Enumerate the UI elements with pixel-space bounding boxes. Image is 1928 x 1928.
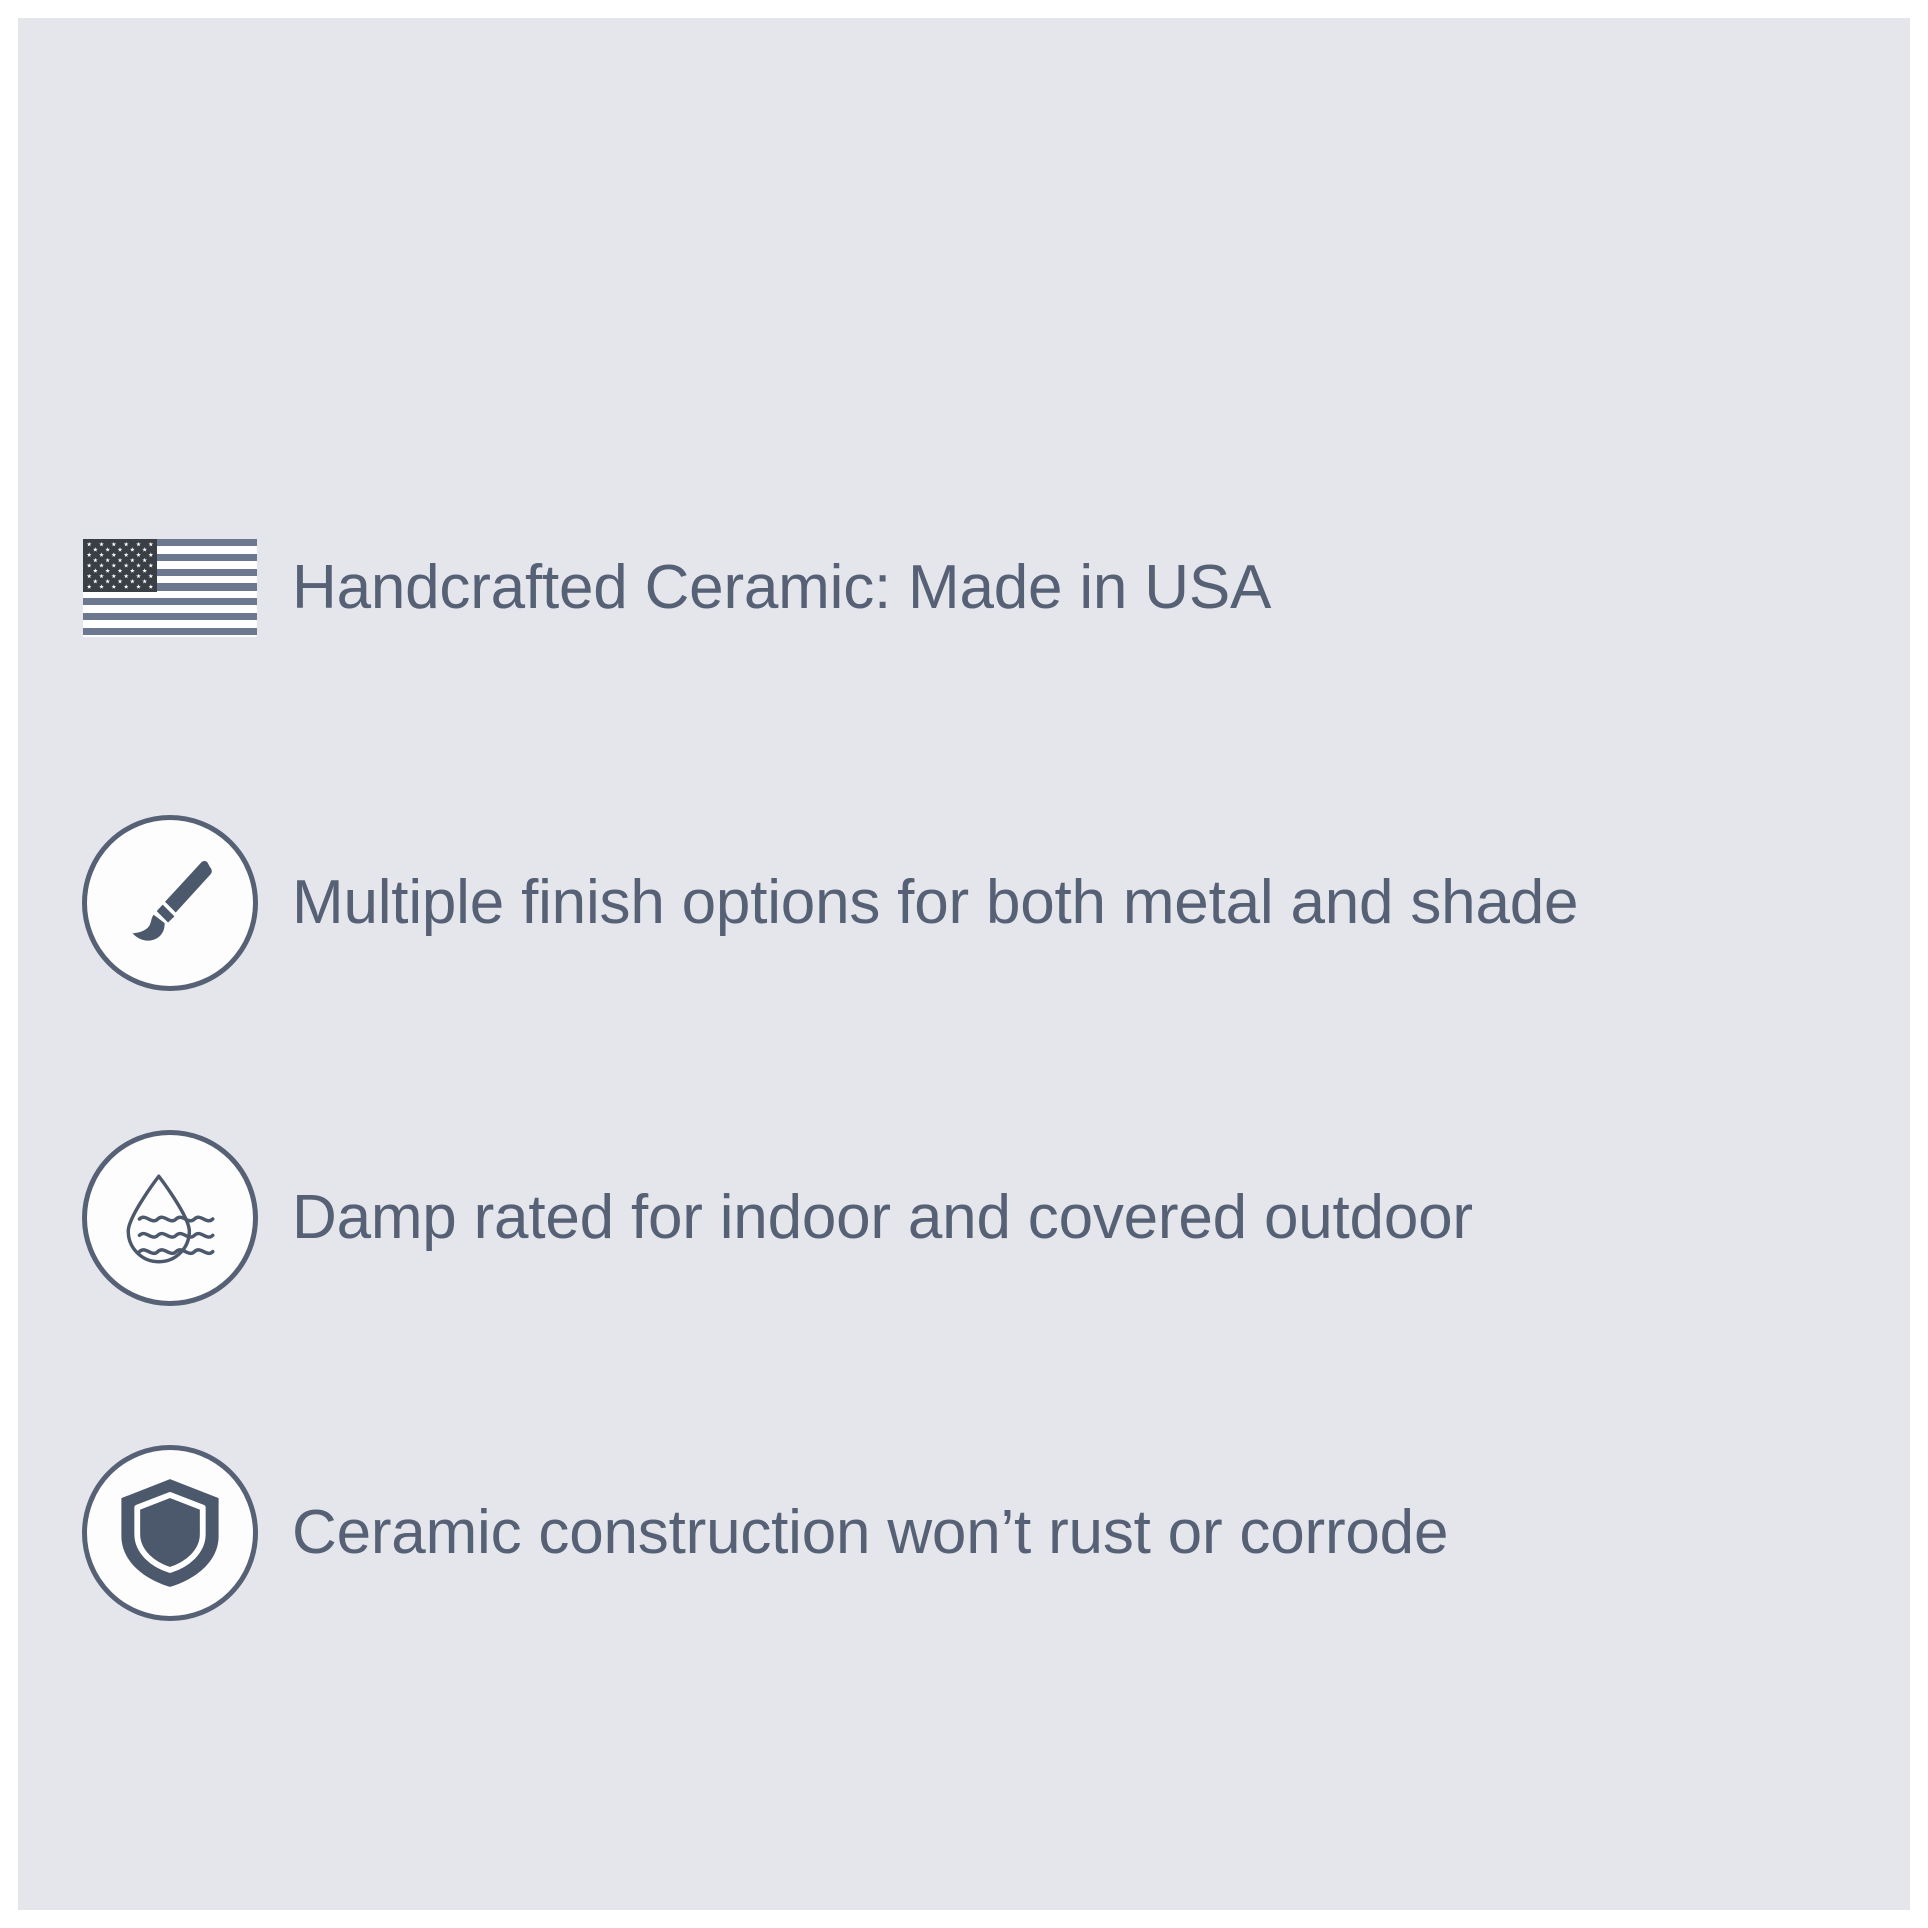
flag-star	[130, 558, 135, 563]
flag-star	[99, 584, 104, 589]
flag-star	[148, 552, 153, 557]
feature-item-made-in-usa: Handcrafted Ceramic: Made in USA	[72, 490, 1892, 686]
flag-star	[130, 547, 135, 552]
feature-list: Handcrafted Ceramic: Made in USA	[18, 18, 1910, 1910]
flag-star	[136, 563, 141, 568]
flag-star	[118, 579, 123, 584]
flag-star	[87, 584, 92, 589]
feature-item-finish-options: Multiple finish options for both metal a…	[72, 805, 1892, 1001]
flag-star	[99, 542, 104, 547]
flag-star	[99, 574, 104, 579]
flag-star	[136, 542, 141, 547]
flag-star	[105, 579, 110, 584]
flag-star	[148, 542, 153, 547]
flag-star	[124, 552, 129, 557]
feature-label: Multiple finish options for both metal a…	[268, 870, 1578, 937]
feature-icon-slot	[72, 805, 268, 1001]
flag-canton	[83, 539, 157, 592]
flag-star	[105, 547, 110, 552]
flag-star	[136, 584, 141, 589]
flag-star	[105, 558, 110, 563]
feature-icon-slot	[72, 1435, 268, 1631]
usa-flag-icon	[83, 539, 257, 637]
feature-icon-slot	[72, 1120, 268, 1316]
shield-icon	[82, 1445, 258, 1621]
flag-star	[105, 568, 110, 573]
flag-star	[87, 552, 92, 557]
flag-star	[130, 568, 135, 573]
flag-star	[142, 558, 147, 563]
flag-star	[118, 568, 123, 573]
product-feature-panel: Handcrafted Ceramic: Made in USA	[0, 0, 1928, 1928]
flag-star	[136, 574, 141, 579]
flag-star	[148, 584, 153, 589]
flag-star	[124, 563, 129, 568]
water-drop-icon	[82, 1130, 258, 1306]
flag-star	[111, 552, 116, 557]
flag-star	[124, 542, 129, 547]
panel-background: Handcrafted Ceramic: Made in USA	[18, 18, 1910, 1910]
feature-label: Damp rated for indoor and covered outdoo…	[268, 1185, 1473, 1252]
flag-star	[111, 563, 116, 568]
flag-star	[124, 584, 129, 589]
flag-star	[118, 547, 123, 552]
flag-star	[99, 563, 104, 568]
flag-star	[142, 547, 147, 552]
flag-star	[118, 558, 123, 563]
feature-label: Handcrafted Ceramic: Made in USA	[268, 555, 1271, 622]
flag-star	[99, 552, 104, 557]
feature-item-ceramic-construction: Ceramic construction won’t rust or corro…	[72, 1435, 1892, 1631]
flag-star	[142, 568, 147, 573]
flag-star	[148, 574, 153, 579]
flag-star	[93, 579, 98, 584]
flag-star	[148, 563, 153, 568]
flag-star	[87, 563, 92, 568]
flag-star	[93, 547, 98, 552]
paint-brush-icon	[82, 815, 258, 991]
flag-star	[136, 552, 141, 557]
flag-star	[111, 584, 116, 589]
flag-star	[93, 558, 98, 563]
flag-star	[87, 542, 92, 547]
flag-star	[93, 568, 98, 573]
feature-item-damp-rated: Damp rated for indoor and covered outdoo…	[72, 1120, 1892, 1316]
feature-label: Ceramic construction won’t rust or corro…	[268, 1500, 1448, 1567]
flag-star	[142, 579, 147, 584]
flag-star	[111, 574, 116, 579]
feature-icon-slot	[72, 490, 268, 686]
flag-star	[130, 579, 135, 584]
flag-star	[124, 574, 129, 579]
flag-star	[111, 542, 116, 547]
flag-star	[87, 574, 92, 579]
